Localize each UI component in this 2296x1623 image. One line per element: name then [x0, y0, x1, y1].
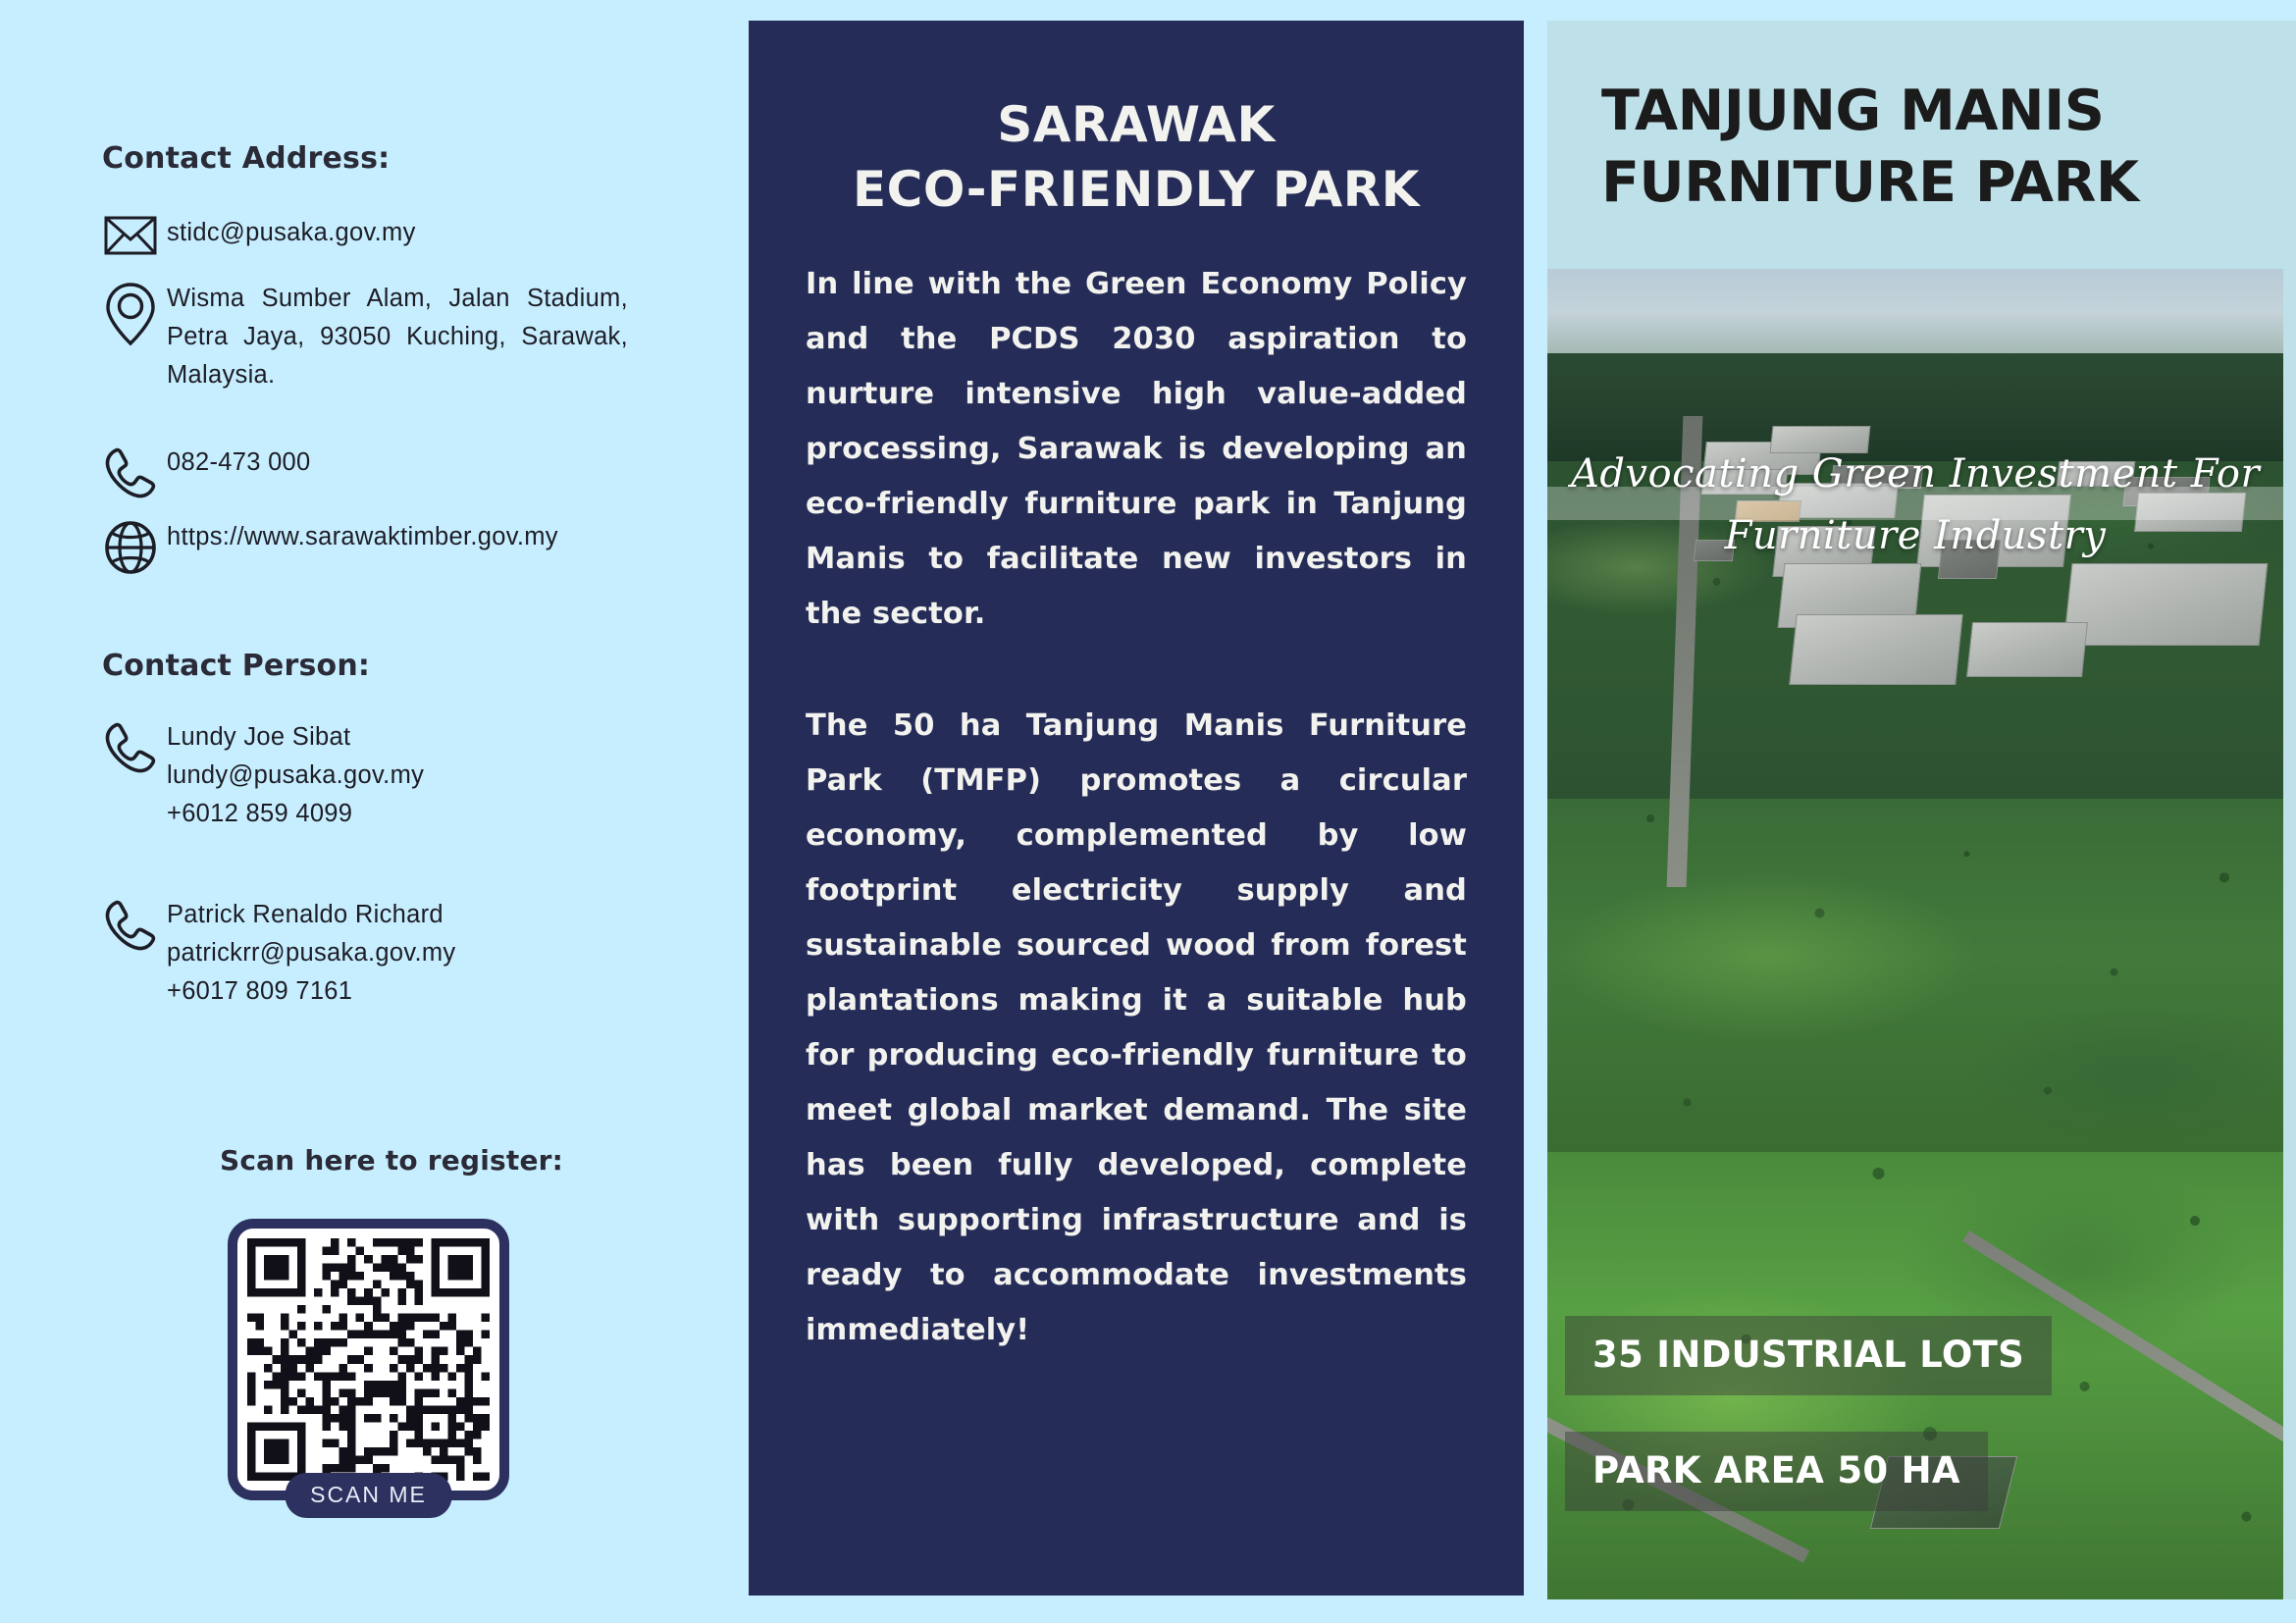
- photo-script-line-2: Furniture Industry: [1547, 505, 2283, 567]
- stat-park-area: PARK AREA 50 HA: [1565, 1432, 1988, 1511]
- envelope-icon: [94, 214, 167, 255]
- center-title-line-1: SARAWAK: [806, 92, 1467, 157]
- person-name: Lundy Joe Sibat: [167, 718, 424, 757]
- center-title-line-2: ECO-FRIENDLY PARK: [806, 157, 1467, 222]
- photo-script-text: Advocating Green Investment For Furnitur…: [1547, 444, 2283, 567]
- aerial-photo: Advocating Green Investment For Furnitur…: [1547, 269, 2283, 1599]
- globe-icon: [94, 518, 167, 575]
- center-paragraph-1: In line with the Green Economy Policy an…: [806, 257, 1467, 642]
- qr-code-frame: [228, 1219, 509, 1500]
- scan-me-label: SCAN ME: [285, 1473, 452, 1518]
- stat-industrial-lots: 35 INDUSTRIAL LOTS: [1565, 1316, 2052, 1395]
- person-name: Patrick Renaldo Richard: [167, 896, 456, 934]
- contact-phone-text: 082-473 000: [167, 444, 311, 482]
- contact-person-2[interactable]: Patrick Renaldo Richard patrickrr@pusaka…: [94, 896, 456, 1011]
- qr-code-block[interactable]: SCAN ME: [228, 1219, 509, 1500]
- right-title-line-1: TANJUNG MANIS: [1601, 76, 2296, 147]
- contact-person-1[interactable]: Lundy Joe Sibat lundy@pusaka.gov.my +601…: [94, 718, 424, 833]
- contact-address-heading: Contact Address:: [102, 141, 390, 176]
- qr-code-icon[interactable]: [247, 1238, 490, 1481]
- contact-website-text: https://www.sarawaktimber.gov.my: [167, 518, 558, 556]
- phone-icon: [94, 718, 167, 775]
- contact-row-address: Wisma Sumber Alam, Jalan Stadium, Petra …: [94, 280, 628, 394]
- contact-row-phone[interactable]: 082-473 000: [94, 444, 311, 500]
- location-pin-icon: [94, 280, 167, 346]
- brochure-page: Contact Address: stidc@pusaka.gov.my Wis…: [0, 0, 2296, 1623]
- contact-row-email[interactable]: stidc@pusaka.gov.my: [94, 214, 416, 255]
- center-info-panel: SARAWAK ECO-FRIENDLY PARK In line with t…: [749, 21, 1524, 1596]
- phone-icon: [94, 896, 167, 953]
- left-contact-panel: Contact Address: stidc@pusaka.gov.my Wis…: [0, 0, 749, 1623]
- contact-email-text: stidc@pusaka.gov.my: [167, 214, 416, 252]
- right-cover-panel: TANJUNG MANIS FURNITURE PARK: [1547, 21, 2296, 1599]
- scan-here-heading: Scan here to register:: [220, 1144, 563, 1177]
- contact-address-text: Wisma Sumber Alam, Jalan Stadium, Petra …: [167, 280, 628, 394]
- phone-icon: [94, 444, 167, 500]
- person-phone: +6017 809 7161: [167, 972, 456, 1011]
- person-phone: +6012 859 4099: [167, 795, 424, 833]
- center-paragraph-2: The 50 ha Tanjung Manis Furniture Park (…: [806, 699, 1467, 1358]
- contact-person-heading: Contact Person:: [102, 649, 370, 683]
- photo-script-line-1: Advocating Green Investment For: [1547, 444, 2283, 505]
- right-title-line-2: FURNITURE PARK: [1601, 147, 2296, 219]
- right-panel-title: TANJUNG MANIS FURNITURE PARK: [1547, 21, 2296, 219]
- person-email: patrickrr@pusaka.gov.my: [167, 934, 456, 972]
- center-panel-title: SARAWAK ECO-FRIENDLY PARK: [806, 92, 1467, 222]
- person-email: lundy@pusaka.gov.my: [167, 757, 424, 795]
- contact-row-website[interactable]: https://www.sarawaktimber.gov.my: [94, 518, 558, 575]
